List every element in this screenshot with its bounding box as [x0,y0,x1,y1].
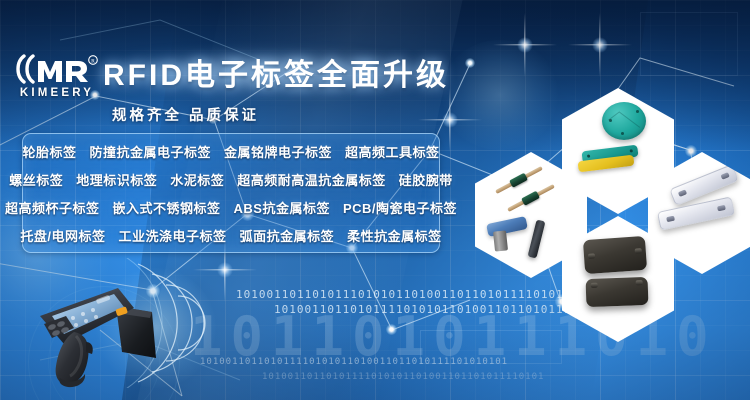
tag-category-item[interactable]: 托盘/电网标签 [20,226,105,245]
page-title: RFID电子标签全面升级 [103,50,449,94]
tag-category-item[interactable]: 水泥标签 [170,170,224,189]
kmr-logo-icon: R [14,52,100,86]
brand-logo[interactable]: R KIMEERY [14,52,100,99]
rfid-promo-banner: 1011010111010 10100110110101110101011010… [0,0,750,400]
tag-category-item[interactable]: 超高频耐高温抗金属标签 [237,170,386,189]
brand-wordmark: KIMEERY [14,87,100,99]
tag-category-item[interactable]: 超高频杯子标签 [5,198,100,217]
teal-disc-tag [602,102,646,140]
tag-category-item[interactable]: 螺丝标签 [9,170,63,189]
tag-category-row: 托盘/电网标签工业洗涤电子标签弧面抗金属标签柔性抗金属标签 [23,221,439,249]
page-subtitle: 规格齐全 品质保证 [112,104,259,125]
tag-category-item[interactable]: 工业洗涤电子标签 [119,226,227,245]
tag-category-item[interactable]: 硅胶腕带 [399,170,453,189]
black-abs-tag [583,236,647,274]
white-anti-metal-tag [657,196,735,230]
tag-category-item[interactable]: 地理标识标签 [76,170,157,189]
black-rod-tag [528,219,546,258]
tag-category-item[interactable]: 防撞抗金属电子标签 [89,142,211,161]
tag-category-item[interactable]: 超高频工具标签 [345,142,440,161]
black-abs-tag [586,277,649,307]
screw-stud-icon [493,230,508,251]
handheld-rfid-reader[interactable] [30,272,165,384]
tag-category-row: 超高频杯子标签嵌入式不锈钢标签ABS抗金属标签PCB/陶瓷电子标签 [23,193,439,221]
tag-category-panel: 轮胎标签防撞抗金属电子标签金属铭牌电子标签超高频工具标签螺丝标签地理标识标签水泥… [22,133,440,253]
tag-category-item[interactable]: 轮胎标签 [22,142,76,161]
headline-block: RFID电子标签全面升级 [103,50,449,94]
tag-category-item[interactable]: 弧面抗金属标签 [240,226,335,245]
tag-category-item[interactable]: 嵌入式不锈钢标签 [113,198,221,217]
tag-category-row: 螺丝标签地理标识标签水泥标签超高频耐高温抗金属标签硅胶腕带 [23,165,439,193]
glass-tube-tag [507,184,555,212]
svg-text:R: R [91,59,95,65]
tag-category-row: 轮胎标签防撞抗金属电子标签金属铭牌电子标签超高频工具标签 [23,137,439,165]
tag-category-item[interactable]: 金属铭牌电子标签 [224,142,332,161]
tag-category-item[interactable]: 柔性抗金属标签 [347,226,442,245]
tag-category-item[interactable]: PCB/陶瓷电子标签 [343,198,457,217]
tag-category-item[interactable]: ABS抗金属标签 [234,198,330,217]
glass-tube-tag [495,166,543,194]
